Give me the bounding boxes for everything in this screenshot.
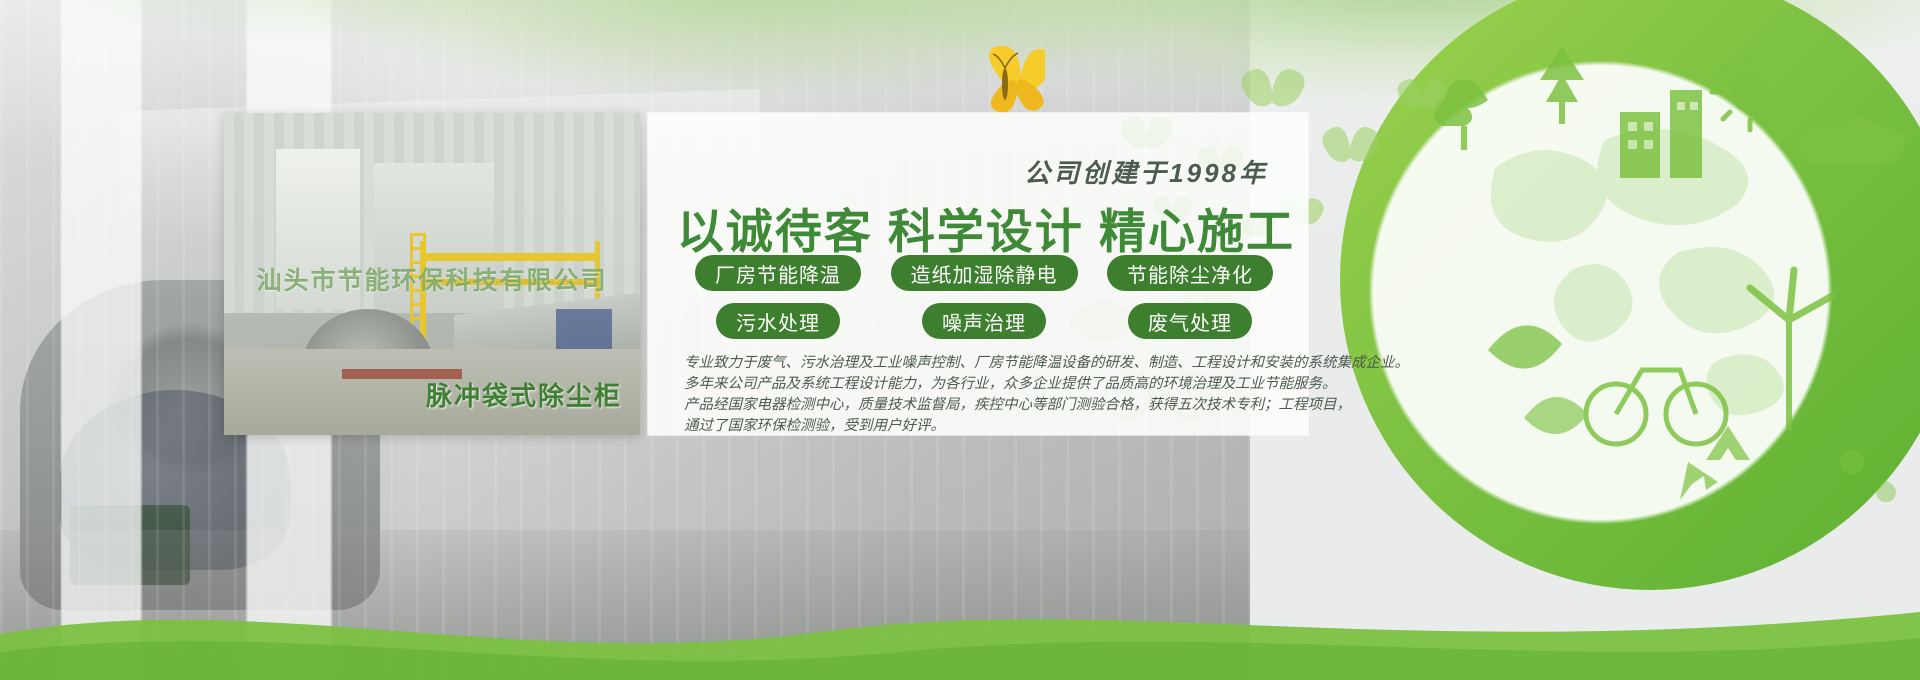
description-line-3: 产品经国家电器检测中心，质量技术监督局，疾控中心等部门测验合格，获得五次技术专利…	[684, 395, 1294, 416]
headline-text: 以诚待客 科学设计 精心施工	[675, 193, 1295, 262]
description-line-2: 多年来公司产品及系统工程设计能力，为各行业，众多企业提供了品质高的环境治理及工业…	[684, 374, 1294, 395]
service-tag-sewage-treatment[interactable]: 污水处理	[716, 303, 840, 339]
tag-cell: 污水处理	[684, 303, 872, 339]
eco-circle-graphic	[1340, 0, 1920, 590]
service-tag-factory-cooling[interactable]: 厂房节能降温	[695, 255, 861, 291]
description-line-1: 专业致力于废气、污水治理及工业噪声控制、厂房节能降温设备的研发、制造、工程设计和…	[684, 353, 1294, 374]
service-tag-noise-control[interactable]: 噪声治理	[922, 303, 1046, 339]
service-tag-list: 厂房节能降温 造纸加湿除静电 节能除尘净化 污水处理 噪声治理 废气处理	[684, 255, 1284, 351]
tag-cell: 厂房节能降温	[684, 255, 872, 291]
description-line-4: 通过了国家环保检测验，受到用户好评。	[684, 416, 1294, 437]
service-tag-paper-humidify[interactable]: 造纸加湿除静电	[891, 255, 1078, 291]
photo-watermark: 汕头市节能环保科技有限公司	[234, 261, 630, 297]
butterfly-icon	[965, 42, 1045, 120]
content-card: 公司创建于1998年 以诚待客 科学设计 精心施工 厂房节能降温 造纸加湿除静电…	[648, 113, 1308, 435]
tag-cell: 节能除尘净化	[1096, 255, 1284, 291]
tag-cell: 造纸加湿除静电	[890, 255, 1078, 291]
company-description: 专业致力于废气、污水治理及工业噪声控制、厂房节能降温设备的研发、制造、工程设计和…	[684, 353, 1294, 437]
service-tag-dust-purification[interactable]: 节能除尘净化	[1107, 255, 1273, 291]
service-tag-waste-gas-treatment[interactable]: 废气处理	[1128, 303, 1252, 339]
photo-caption: 脉冲袋式除尘柜	[426, 376, 622, 413]
photo-rail-upper	[420, 253, 600, 261]
tag-row-2: 污水处理 噪声治理 废气处理	[684, 303, 1284, 339]
hero-banner: 汕头市节能环保科技有限公司 脉冲袋式除尘柜	[0, 0, 1920, 680]
product-photo-card[interactable]: 汕头市节能环保科技有限公司 脉冲袋式除尘柜	[224, 113, 640, 435]
established-text: 公司创建于1998年	[1024, 153, 1268, 190]
background-motor-shape	[70, 505, 190, 585]
background-floor	[0, 530, 1250, 680]
tag-row-1: 厂房节能降温 造纸加湿除静电 节能除尘净化	[684, 255, 1284, 291]
tag-cell: 废气处理	[1096, 303, 1284, 339]
tag-cell: 噪声治理	[890, 303, 1078, 339]
world-map-icon	[1439, 82, 1861, 479]
